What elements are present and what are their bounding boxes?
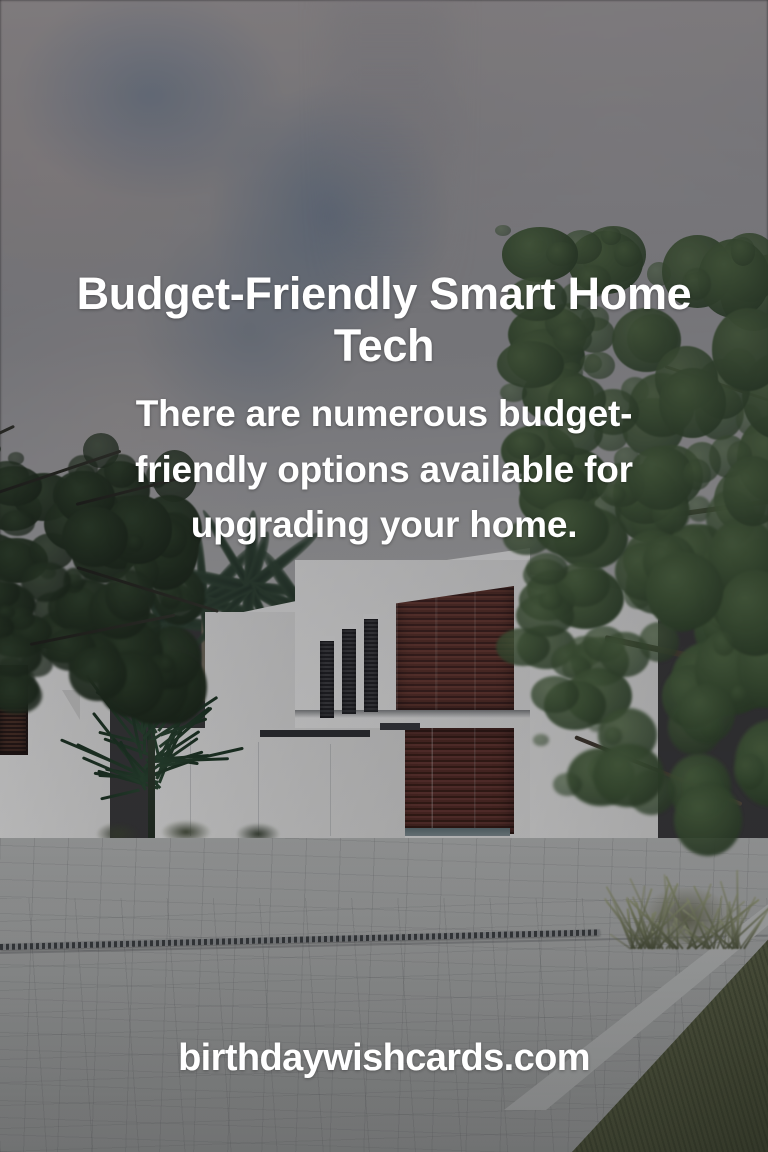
- pin-headline: Budget-Friendly Smart Home Tech: [34, 268, 734, 372]
- pinterest-pin-card: Budget-Friendly Smart Home Tech There ar…: [0, 0, 768, 1152]
- site-watermark: birthdaywishcards.com: [0, 1037, 768, 1080]
- pin-subheadline: There are numerous budget-friendly optio…: [84, 386, 684, 553]
- text-overlay-stack: Budget-Friendly Smart Home Tech There ar…: [0, 0, 768, 1152]
